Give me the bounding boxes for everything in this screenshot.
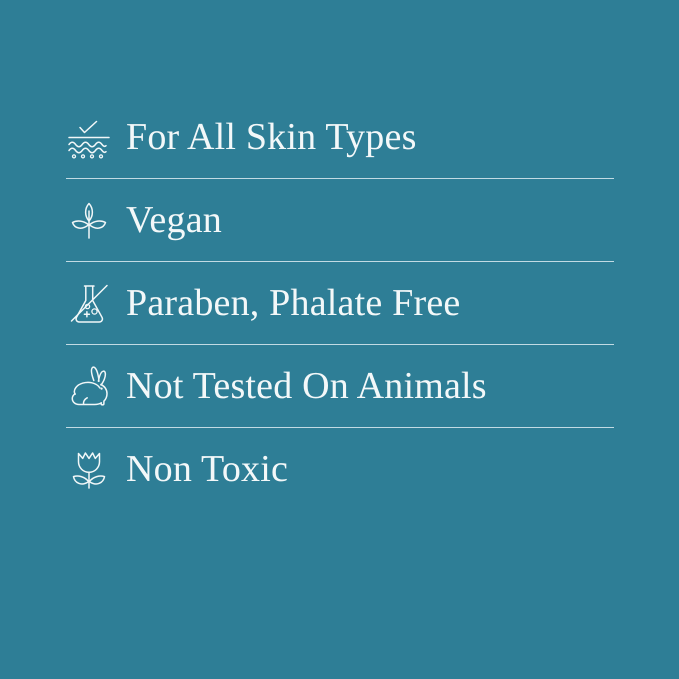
- feature-label: Paraben, Phalate Free: [126, 284, 460, 322]
- feature-row: Vegan: [66, 179, 614, 261]
- leaf-sprout-icon: [66, 190, 126, 250]
- tulip-flower-icon: [66, 439, 126, 499]
- feature-row: Not Tested On Animals: [66, 345, 614, 427]
- feature-label: Not Tested On Animals: [126, 367, 487, 405]
- feature-label: For All Skin Types: [126, 118, 417, 156]
- feature-label: Vegan: [126, 201, 222, 239]
- feature-row: Paraben, Phalate Free: [66, 262, 614, 344]
- feature-row: For All Skin Types: [66, 96, 614, 178]
- feature-row: Non Toxic: [66, 428, 614, 510]
- feature-label: Non Toxic: [126, 450, 288, 488]
- product-benefits-panel: For All Skin Types Vegan: [0, 0, 679, 679]
- skin-waves-check-icon: [66, 107, 126, 167]
- rabbit-icon: [66, 356, 126, 416]
- feature-list: For All Skin Types Vegan: [66, 96, 614, 510]
- crossed-out-flask-icon: [66, 273, 126, 333]
